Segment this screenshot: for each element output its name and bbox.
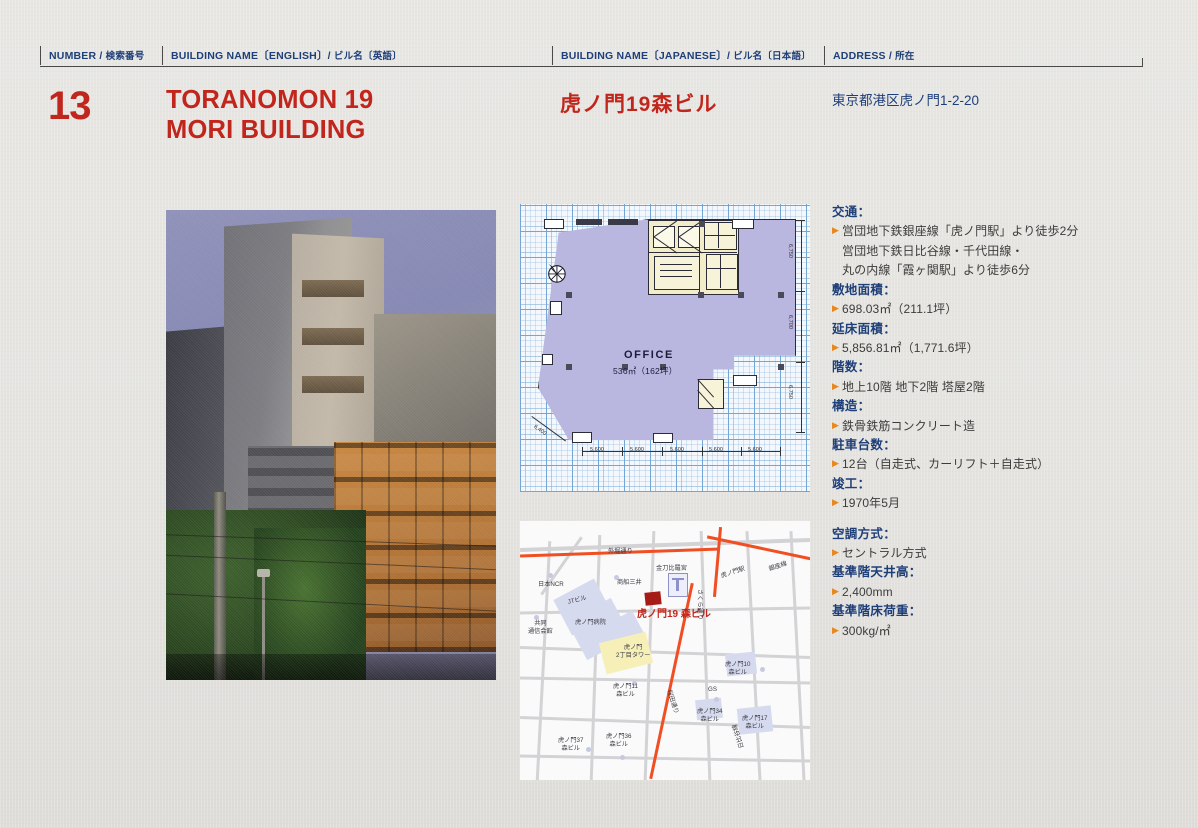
building-photo (166, 210, 496, 680)
map-label: 虎ノ門病院 (575, 619, 606, 627)
spec-value-text: 丸の内線「霞ヶ関駅」より徒歩6分 (842, 261, 1030, 280)
elevator-icon (678, 226, 700, 248)
floor-plan-area: 536㎡（162坪） (613, 365, 677, 377)
opening (550, 301, 562, 315)
record-number: 13 (48, 86, 91, 126)
map-label: GS (708, 686, 717, 694)
spec-heading: 竣工： (832, 475, 1112, 494)
floor-plan-title: OFFICE (624, 349, 674, 361)
spec-value-continuation: ▶営団地下鉄日比谷線・千代田線・ (832, 242, 1112, 261)
spec-value: ▶営団地下鉄銀座線「虎ノ門駅」より徒歩2分 (832, 222, 1112, 241)
dimension-tick (796, 362, 805, 363)
map-label: 虎ノ門17 森ビル (742, 715, 767, 731)
wall-segment (608, 219, 638, 225)
location-map: 虎ノ門19 森ビル 外堀通り 日本NCR JTビル 共同 通信会館 虎ノ門病院 … (520, 521, 810, 780)
partition-line (704, 235, 735, 236)
map-label: 虎ノ門37 森ビル (558, 737, 583, 753)
map-label: 虎ノ門11 森ビル (613, 683, 638, 699)
spec-value: ▶5,856.81㎡（1,771.6坪） (832, 339, 1112, 358)
dimension-line-right (801, 220, 802, 432)
header-col-name-jp: BUILDING NAME〔JAPANESE〕/ ビル名〔日本語〕 (552, 45, 824, 66)
map-label: 外堀通り (608, 548, 633, 556)
opening (572, 432, 592, 443)
elevator-icon (653, 226, 675, 248)
spec-value: ▶12台（自走式、カーリフト＋自走式） (832, 455, 1112, 474)
map-dot (586, 747, 591, 752)
street (520, 646, 810, 660)
spec-heading: 基準階天井高： (832, 563, 1112, 582)
bullet-triangle-icon: ▶ (832, 222, 839, 239)
map-dot (548, 573, 553, 578)
header-col-number: NUMBER / 検索番号 (40, 45, 160, 66)
core-wall (699, 220, 700, 293)
street (520, 754, 810, 762)
stair-tread (660, 264, 692, 265)
dimension-tick (582, 447, 583, 456)
header-col-number-label: NUMBER / 検索番号 (49, 48, 144, 62)
column (699, 221, 705, 227)
dimension-label: 5,600 (748, 447, 762, 453)
spec-value-text: 営団地下鉄銀座線「虎ノ門駅」より徒歩2分 (842, 222, 1078, 241)
spec-value-text: 2,400mm (842, 583, 893, 602)
map-dot (714, 697, 719, 702)
spec-heading: 駐車台数： (832, 436, 1112, 455)
map-label: 共同 通信会館 (528, 620, 553, 636)
map-dot (620, 755, 625, 760)
photo-grain (166, 210, 496, 680)
dimension-label: 5,600 (709, 447, 723, 453)
dimension-tick (796, 291, 805, 292)
core-wall (648, 252, 737, 253)
dimension-label: 6,700 (787, 315, 793, 329)
map-label: 銀座線 (768, 560, 788, 573)
spec-heading: 基準階床荷重： (832, 602, 1112, 621)
column (566, 292, 572, 298)
spec-group-gap (832, 514, 1112, 525)
bullet-triangle-icon: ▶ (832, 622, 839, 639)
header-rule (40, 66, 1143, 67)
map-label: さくら通り (695, 589, 703, 620)
restroom-area (706, 254, 738, 290)
map-label: 虎ノ門36 森ビル (606, 733, 631, 749)
building-address: 東京都港区虎ノ門1-2-20 (832, 89, 979, 109)
spec-value: ▶鉄骨鉄筋コンクリート造 (832, 417, 1112, 436)
stair-area (654, 256, 700, 290)
entrance-opening (544, 219, 564, 229)
spec-value-text: 営団地下鉄日比谷線・千代田線・ (842, 242, 1024, 261)
spec-value-text: 1970年5月 (842, 494, 900, 513)
bullet-triangle-icon: ▶ (832, 583, 839, 600)
partition-line (706, 268, 736, 269)
map-label: 虎ノ門駅 (720, 565, 746, 580)
spec-heading: 敷地面積： (832, 281, 1112, 300)
map-label: 商船三井 (617, 579, 642, 587)
spec-value: ▶698.03㎡（211.1坪） (832, 300, 1112, 319)
map-label: 日本NCR (538, 581, 564, 589)
dimension-label: 6,750 (787, 244, 793, 258)
specification-panel: 交通：▶営団地下鉄銀座線「虎ノ門駅」より徒歩2分▶営団地下鉄日比谷線・千代田線・… (832, 203, 1112, 641)
map-label: 金刀比羅宮 (656, 565, 687, 573)
spec-value-text: 5,856.81㎡（1,771.6坪） (842, 339, 979, 358)
opening (653, 433, 673, 443)
target-building-marker (644, 591, 661, 606)
building-name-english: TORANOMON 19 MORI BUILDING (166, 86, 373, 146)
north-arrow-icon (545, 262, 567, 284)
bullet-triangle-icon: ▶ (832, 544, 839, 561)
column (698, 292, 704, 298)
spec-value-text: 地上10階 地下2階 塔屋2階 (842, 378, 985, 397)
map-label: 虎ノ門10 森ビル (725, 661, 750, 677)
bullet-triangle-icon: ▶ (832, 417, 839, 434)
dimension-tick (662, 447, 663, 456)
spec-heading: 構造： (832, 397, 1112, 416)
spec-value-text: セントラル方式 (842, 544, 927, 563)
street (520, 676, 810, 684)
dimension-tick (741, 447, 742, 456)
building-name-japanese: 虎ノ門19森ビル (560, 88, 717, 118)
opening (733, 375, 757, 386)
spec-heading: 階数： (832, 358, 1112, 377)
map-label: 虎ノ門34 森ビル (697, 708, 722, 724)
header-col-name-jp-label: BUILDING NAME〔JAPANESE〕/ ビル名〔日本語〕 (561, 48, 811, 63)
bullet-triangle-icon: ▶ (832, 378, 839, 395)
column (778, 292, 784, 298)
spec-value-text: 12台（自走式、カーリフト＋自走式） (842, 455, 1049, 474)
spec-heading: 延床面積： (832, 320, 1112, 339)
dimension-label: 5,600 (670, 447, 684, 453)
dimension-tick (796, 432, 805, 433)
dimension-label: 5,600 (590, 447, 604, 453)
spec-value: ▶1970年5月 (832, 494, 1112, 513)
column (566, 364, 572, 370)
header-col-name-en: BUILDING NAME〔ENGLISH〕/ ビル名〔英語〕 (162, 45, 552, 66)
bullet-triangle-icon: ▶ (832, 494, 839, 511)
partition-line (720, 254, 721, 288)
spec-value-text: 300kg/㎡ (842, 622, 891, 641)
dimension-tick (796, 220, 805, 221)
header-label-bar: NUMBER / 検索番号 BUILDING NAME〔ENGLISH〕/ ビル… (40, 45, 1143, 67)
header-col-address-label: ADDRESS / 所在 (833, 48, 915, 62)
opening (542, 354, 553, 365)
spec-value-continuation: ▶丸の内線「霞ヶ関駅」より徒歩6分 (832, 261, 1112, 280)
map-dot (760, 667, 765, 672)
spec-heading: 空調方式： (832, 525, 1112, 544)
dimension-tick (622, 447, 623, 456)
map-label: 虎ノ門 2丁目タワー (616, 644, 650, 660)
spec-value-text: 鉄骨鉄筋コンクリート造 (842, 417, 975, 436)
entrance-opening (732, 219, 754, 229)
spec-value-text: 698.03㎡（211.1坪） (842, 300, 957, 319)
catalog-page: NUMBER / 検索番号 BUILDING NAME〔ENGLISH〕/ ビル… (0, 0, 1198, 828)
shrine-icon (668, 573, 688, 597)
dimension-label: 6,750 (787, 385, 793, 399)
floor-plan: OFFICE 536㎡（162坪） 5,600 5,600 5,600 5,60… (520, 204, 810, 492)
dimension-tick (702, 447, 703, 456)
column (738, 292, 744, 298)
spec-value: ▶地上10階 地下2階 塔屋2階 (832, 378, 1112, 397)
dimension-label: 5,600 (630, 447, 644, 453)
spec-value: ▶2,400mm (832, 583, 1112, 602)
spec-value: ▶300kg/㎡ (832, 622, 1112, 641)
bullet-triangle-icon: ▶ (832, 300, 839, 317)
spec-heading: 交通： (832, 203, 1112, 222)
header-col-address: ADDRESS / 所在 (824, 45, 1143, 66)
header-col-name-en-label: BUILDING NAME〔ENGLISH〕/ ビル名〔英語〕 (171, 48, 402, 63)
column (778, 364, 784, 370)
bullet-triangle-icon: ▶ (832, 339, 839, 356)
wall-segment (576, 219, 602, 225)
spec-value: ▶セントラル方式 (832, 544, 1112, 563)
stair-tread (660, 270, 692, 271)
stair-tread (660, 276, 692, 277)
dimension-tick (780, 447, 781, 456)
bullet-triangle-icon: ▶ (832, 455, 839, 472)
